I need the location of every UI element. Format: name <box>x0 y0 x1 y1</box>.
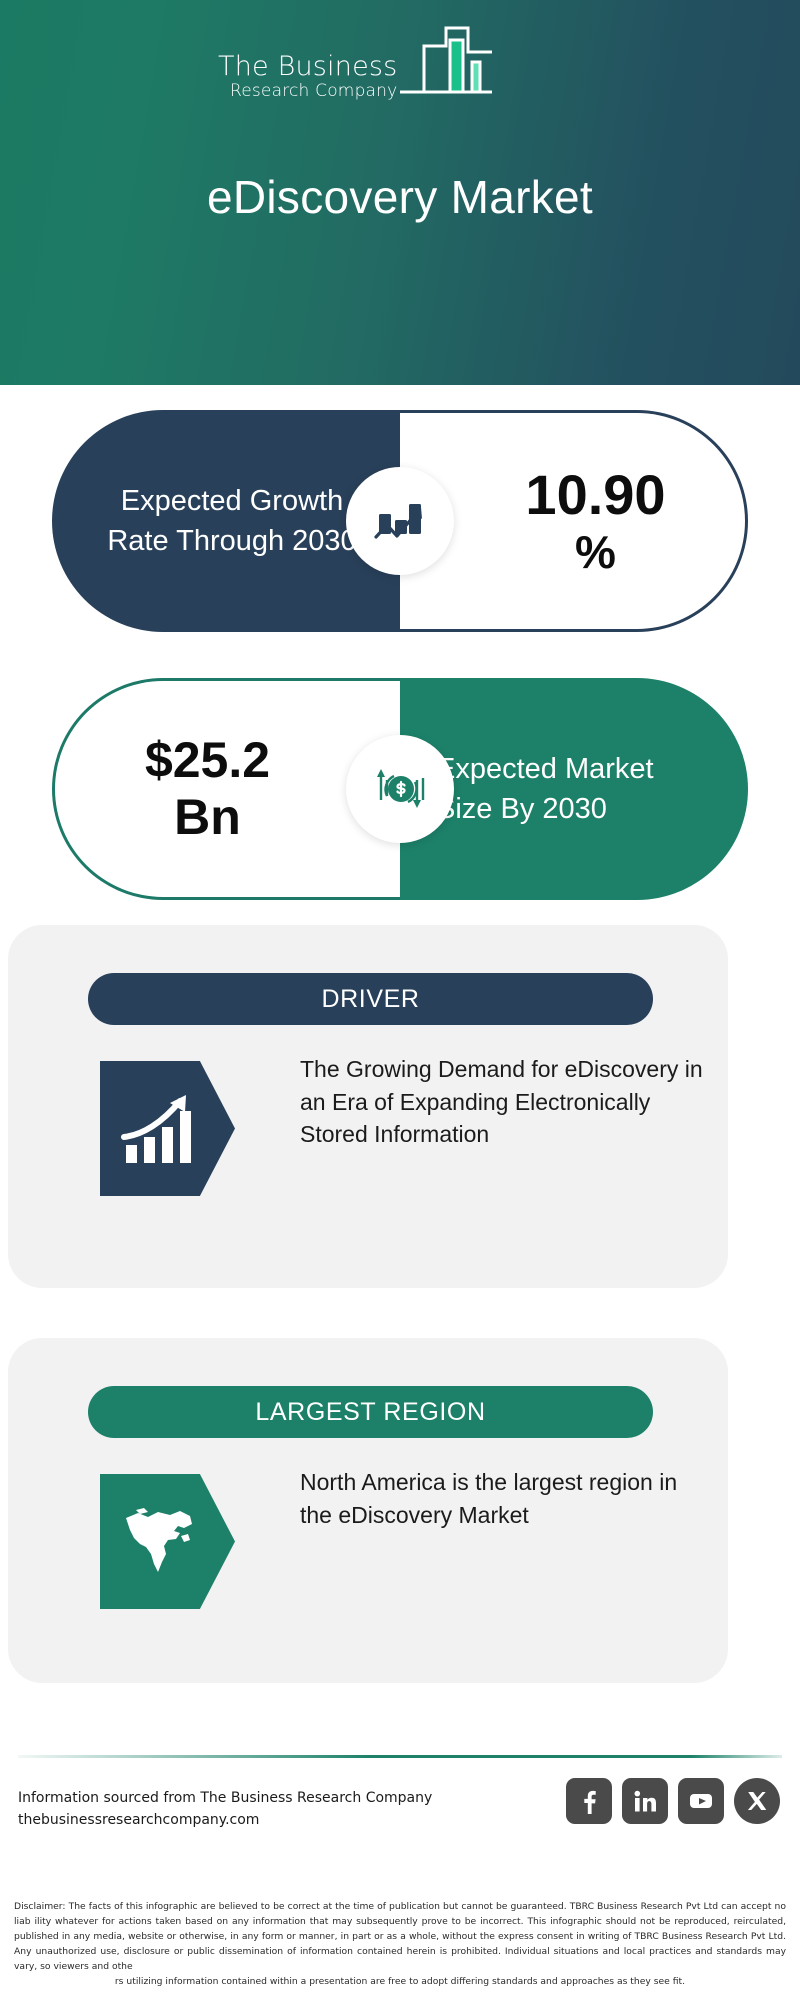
dollar-cycle-icon <box>346 735 454 843</box>
stat-value-unit: Bn <box>145 789 270 847</box>
largest-region-pill-label: LARGEST REGION <box>88 1386 653 1438</box>
driver-pill-label: DRIVER <box>88 973 653 1025</box>
largest-region-panel: LARGEST REGION North America is the larg… <box>8 1338 728 1683</box>
footer-divider <box>18 1755 782 1758</box>
page-title: eDiscovery Market <box>0 170 800 224</box>
linkedin-icon[interactable] <box>622 1778 668 1824</box>
bar-chart-growth-arrow-icon <box>100 1061 235 1196</box>
source-website[interactable]: thebusinessresearchcompany.com <box>18 1810 432 1832</box>
logo-wordmark: The Business Research Company <box>218 53 397 100</box>
x-twitter-icon[interactable] <box>734 1778 780 1824</box>
source-attribution: Information sourced from The Business Re… <box>18 1788 432 1831</box>
disclaimer-line: use, disclosure or public dissemination … <box>14 1946 786 1972</box>
north-america-map-icon <box>100 1474 235 1609</box>
infographic-page: The Business Research Company eDiscovery… <box>0 0 800 2000</box>
logo-line-1: The Business <box>218 53 397 80</box>
company-logo: The Business Research Company <box>218 22 494 100</box>
logo-line-2: Research Company <box>230 83 397 100</box>
stat-value-unit: % <box>525 527 665 579</box>
stat-card-growth-rate: Expected Growth Rate Through 2030 10.90 … <box>52 410 748 632</box>
driver-panel: DRIVER The Growing Demand for eDiscovery… <box>8 925 728 1288</box>
youtube-icon[interactable] <box>678 1778 724 1824</box>
disclaimer-text: Disclaimer: The facts of this infographi… <box>14 1900 786 1989</box>
facebook-icon[interactable] <box>566 1778 612 1824</box>
social-links <box>566 1778 780 1824</box>
disclaimer-line: rs utilizing information contained withi… <box>14 1975 786 1990</box>
stat-value: 10.90 % <box>479 464 665 578</box>
logo-bar-chart-icon <box>398 22 494 100</box>
stat-value-number: 10.90 <box>525 463 665 526</box>
source-line-1: Information sourced from The Business Re… <box>18 1788 432 1810</box>
header-banner: The Business Research Company eDiscovery… <box>0 0 800 385</box>
largest-region-text: North America is the largest region in t… <box>300 1466 710 1531</box>
stat-value: $25.2 Bn <box>145 732 310 847</box>
growth-chart-arrow-icon <box>346 467 454 575</box>
driver-text: The Growing Demand for eDiscovery in an … <box>300 1053 710 1151</box>
stat-card-market-size: $25.2 Bn Expected Market Size By 2030 <box>52 678 748 900</box>
stat-value-number: $25.2 <box>145 732 270 788</box>
